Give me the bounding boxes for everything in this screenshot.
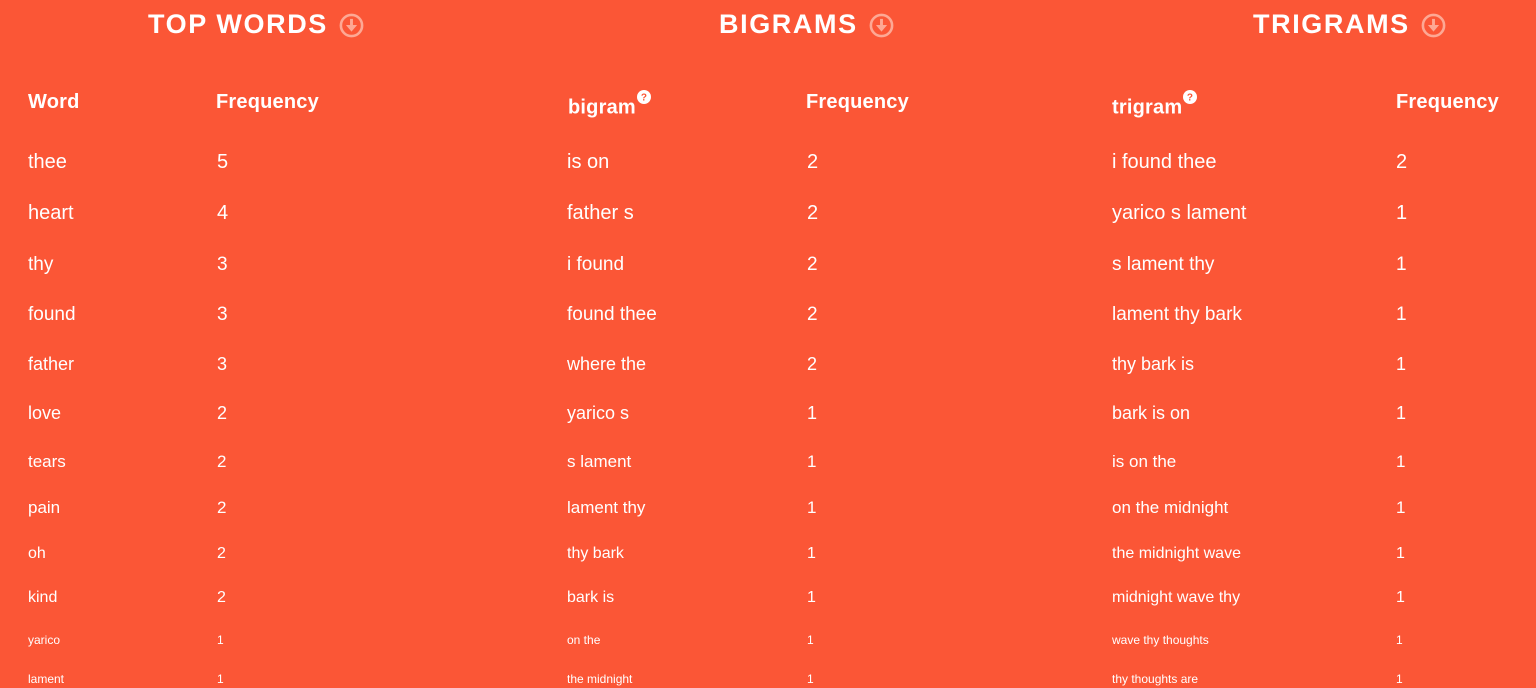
row-term: tears: [28, 453, 66, 470]
row-term: lament thy bark: [1112, 305, 1242, 324]
row-term: thy thoughts are: [1112, 673, 1198, 685]
row-frequency: 2: [217, 453, 226, 470]
row-term: thy bark: [567, 546, 624, 562]
row-frequency: 1: [807, 590, 816, 606]
table-row[interactable]: lament thy bark1: [1090, 298, 1536, 324]
table-row[interactable]: yarico s1: [545, 396, 1090, 422]
row-term: on the: [567, 634, 600, 646]
row-term: bark is: [567, 590, 614, 606]
row-term: thy bark is: [1112, 355, 1194, 373]
row-frequency: 1: [807, 404, 817, 422]
row-frequency: 2: [807, 305, 818, 324]
row-term: kind: [28, 590, 57, 606]
svg-text:?: ?: [1187, 93, 1193, 104]
table-row[interactable]: is on2: [545, 146, 1090, 172]
table-row[interactable]: s lament1: [545, 444, 1090, 470]
table-row[interactable]: lament1: [0, 659, 545, 685]
column-top-words: Word Frequency thee5heart4thy3found3fath…: [0, 0, 545, 688]
column-header-label: Frequency: [216, 91, 319, 113]
row-frequency: 1: [1396, 634, 1403, 646]
row-frequency: 3: [217, 255, 228, 274]
row-frequency: 2: [217, 499, 226, 516]
row-frequency: 5: [217, 152, 228, 172]
row-frequency: 1: [217, 673, 224, 685]
table-row[interactable]: is on the1: [1090, 444, 1536, 470]
row-frequency: 2: [217, 546, 226, 562]
table-row[interactable]: thy bark is1: [1090, 347, 1536, 373]
column-header-label: Frequency: [1396, 91, 1499, 113]
table-row[interactable]: the midnight wave1: [1090, 536, 1536, 562]
column-header-label: Word: [28, 91, 80, 113]
column-header-frequency[interactable]: Frequency: [216, 92, 319, 112]
row-term: father s: [567, 203, 634, 223]
table-row[interactable]: thee5: [0, 146, 545, 172]
row-frequency: 1: [807, 634, 814, 646]
table-row[interactable]: i found thee2: [1090, 146, 1536, 172]
column-header-label: Frequency: [806, 91, 909, 113]
row-term: the midnight wave: [1112, 546, 1241, 562]
row-frequency: 3: [217, 355, 227, 373]
row-frequency: 1: [1396, 546, 1405, 562]
row-frequency: 1: [807, 499, 816, 516]
table-row[interactable]: thy3: [0, 248, 545, 274]
table-row[interactable]: pain2: [0, 490, 545, 516]
row-frequency: 1: [1396, 255, 1407, 274]
table-row[interactable]: heart4: [0, 197, 545, 223]
row-term: thy: [28, 255, 53, 274]
row-term: yarico s: [567, 404, 629, 422]
row-term: oh: [28, 546, 46, 562]
table-row[interactable]: found thee2: [545, 298, 1090, 324]
row-frequency: 2: [217, 590, 226, 606]
row-frequency: 1: [807, 453, 816, 470]
table-row[interactable]: where the2: [545, 347, 1090, 373]
row-frequency: 2: [217, 404, 227, 422]
help-question-icon[interactable]: ?: [1183, 90, 1197, 104]
row-frequency: 4: [217, 203, 228, 223]
row-frequency: 2: [807, 255, 818, 274]
row-term: is on the: [1112, 453, 1176, 470]
table-row[interactable]: the midnight1: [545, 659, 1090, 685]
svg-text:?: ?: [641, 93, 647, 104]
column-bigrams: bigram ? Frequency is on2father s2i foun…: [545, 0, 1090, 688]
row-frequency: 1: [1396, 453, 1405, 470]
row-term: s lament thy: [1112, 255, 1214, 274]
row-term: i found: [567, 255, 624, 274]
row-frequency: 1: [807, 673, 814, 685]
table-row[interactable]: bark is on1: [1090, 396, 1536, 422]
row-term: thee: [28, 152, 67, 172]
row-frequency: 3: [217, 305, 228, 324]
column-trigrams: trigram ? Frequency i found thee2yarico …: [1090, 0, 1536, 688]
row-frequency: 1: [1396, 499, 1405, 516]
table-row[interactable]: s lament thy1: [1090, 248, 1536, 274]
column-header-frequency[interactable]: Frequency: [1396, 92, 1499, 112]
table-row[interactable]: kind2: [0, 580, 545, 606]
row-term: lament thy: [567, 499, 645, 516]
row-term: on the midnight: [1112, 499, 1228, 516]
row-term: yarico: [28, 634, 60, 646]
column-header-frequency[interactable]: Frequency: [806, 92, 909, 112]
row-term: where the: [567, 355, 646, 373]
row-term: bark is on: [1112, 404, 1190, 422]
ngram-dashboard: TOP WORDS BIGRAMS TRIGRAMS: [0, 0, 1536, 688]
row-frequency: 2: [1396, 152, 1407, 172]
table-row[interactable]: thy bark1: [545, 536, 1090, 562]
column-header-label: trigram: [1112, 97, 1182, 119]
table-row[interactable]: on the1: [545, 620, 1090, 646]
row-term: yarico s lament: [1112, 203, 1247, 223]
row-term: s lament: [567, 453, 631, 470]
row-frequency: 1: [1396, 355, 1406, 373]
row-term: midnight wave thy: [1112, 590, 1240, 606]
row-term: heart: [28, 203, 74, 223]
row-frequency: 1: [1396, 305, 1407, 324]
column-header-label: bigram: [568, 97, 636, 119]
row-term: wave thy thoughts: [1112, 634, 1209, 646]
column-header-bigram[interactable]: bigram ?: [568, 92, 651, 118]
row-frequency: 2: [807, 152, 818, 172]
column-header-trigram[interactable]: trigram ?: [1112, 92, 1197, 118]
row-term: is on: [567, 152, 609, 172]
row-frequency: 1: [1396, 590, 1405, 606]
row-frequency: 1: [217, 634, 224, 646]
help-question-icon[interactable]: ?: [637, 90, 651, 104]
row-term: father: [28, 355, 74, 373]
table-row[interactable]: thy thoughts are1: [1090, 659, 1536, 685]
table-row[interactable]: oh2: [0, 536, 545, 562]
row-frequency: 2: [807, 203, 818, 223]
table-row[interactable]: father s2: [545, 197, 1090, 223]
table-row[interactable]: found3: [0, 298, 545, 324]
table-row[interactable]: father3: [0, 347, 545, 373]
table-row[interactable]: tears2: [0, 444, 545, 470]
row-frequency: 2: [807, 355, 817, 373]
table-row[interactable]: on the midnight1: [1090, 490, 1536, 516]
row-term: the midnight: [567, 673, 632, 685]
table-row[interactable]: bark is1: [545, 580, 1090, 606]
row-frequency: 1: [1396, 404, 1406, 422]
table-row[interactable]: midnight wave thy1: [1090, 580, 1536, 606]
row-term: found thee: [567, 305, 657, 324]
table-row[interactable]: lament thy1: [545, 490, 1090, 516]
table-row[interactable]: i found2: [545, 248, 1090, 274]
row-term: found: [28, 305, 76, 324]
row-frequency: 1: [807, 546, 816, 562]
column-header-word[interactable]: Word: [28, 92, 80, 112]
table-row[interactable]: wave thy thoughts1: [1090, 620, 1536, 646]
row-term: pain: [28, 499, 60, 516]
table-row[interactable]: yarico s lament1: [1090, 197, 1536, 223]
row-frequency: 1: [1396, 673, 1403, 685]
table-row[interactable]: yarico1: [0, 620, 545, 646]
row-term: love: [28, 404, 61, 422]
row-frequency: 1: [1396, 203, 1407, 223]
row-term: i found thee: [1112, 152, 1217, 172]
table-row[interactable]: love2: [0, 396, 545, 422]
row-term: lament: [28, 673, 64, 685]
